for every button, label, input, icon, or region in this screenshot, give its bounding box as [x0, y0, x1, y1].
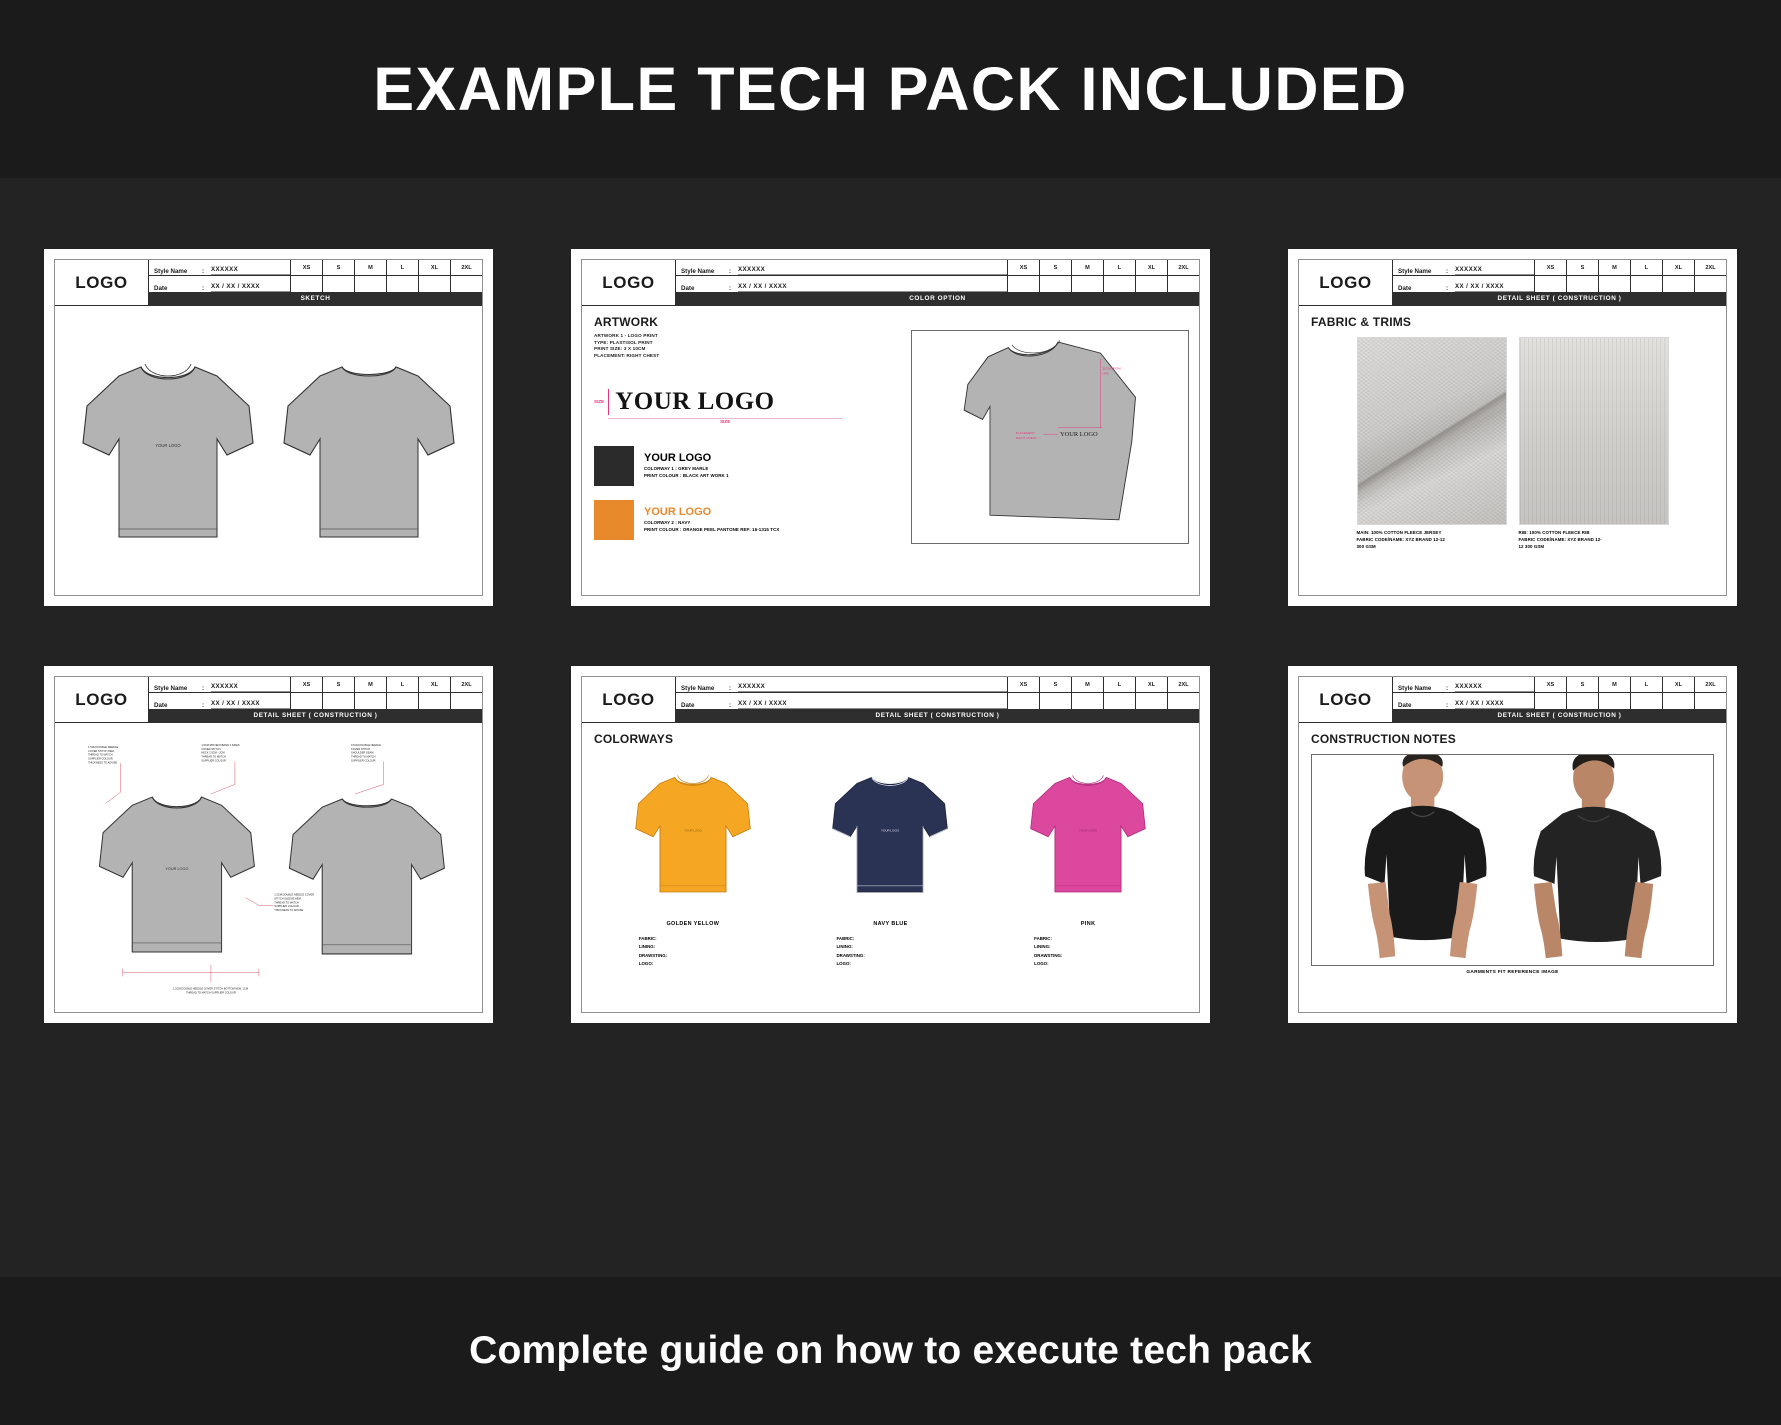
- size-l: L: [1104, 677, 1135, 693]
- date-value: XX / XX / XXXX: [211, 700, 290, 709]
- size-2xl-value[interactable]: [1168, 693, 1199, 709]
- size-tag-left: SIZE: [594, 399, 608, 404]
- colorway-specs-pink: FABRIC: LINING: DRAWSTING: LOGO:: [1028, 935, 1148, 968]
- size-rule-vertical: [608, 389, 609, 415]
- hero-logo-text: YOUR LOGO: [615, 388, 774, 416]
- size-xs-value[interactable]: [291, 276, 322, 292]
- size-xs-value[interactable]: [1535, 693, 1566, 709]
- colorway-item-golden-yellow[interactable]: YOUR LOGO GOLDEN YELLOW FABRIC: LINING: …: [633, 760, 753, 968]
- size-2xl-value[interactable]: [1695, 693, 1726, 709]
- spec-drawstring: DRAWSTING:: [836, 952, 950, 960]
- colon: :: [202, 285, 211, 292]
- size-2xl: 2XL: [1695, 260, 1726, 276]
- size-xs: XS: [291, 260, 322, 276]
- date-value: XX / XX / XXXX: [1455, 283, 1534, 292]
- logo-placeholder: LOGO: [582, 677, 676, 722]
- spec-lining: LINING:: [639, 943, 753, 951]
- colon: :: [202, 702, 211, 709]
- spec-logo: LOGO:: [639, 960, 753, 968]
- colon: :: [202, 685, 211, 692]
- size-m-value[interactable]: [1599, 276, 1630, 292]
- artwork-meta-line-1: ARTWORK 1 - LOGO PRINT: [594, 333, 902, 340]
- top-banner-title: EXAMPLE TECH PACK INCLUDED: [373, 54, 1407, 124]
- size-xl-value[interactable]: [419, 693, 450, 709]
- tee-back-flat: [289, 799, 444, 954]
- style-name-field: Style Name : XXXXXX: [676, 677, 1007, 693]
- style-name-label: Style Name: [1398, 268, 1446, 275]
- fit-reference-photo: [1311, 754, 1714, 966]
- tee-front-flat: YOUR LOGO: [99, 797, 254, 952]
- size-xs-value[interactable]: [1535, 276, 1566, 292]
- date-value: XX / XX / XXXX: [211, 283, 290, 292]
- sheet-header: LOGO Style Name : XXXXXX Date :: [55, 260, 482, 306]
- callout-hps-line2: HPS: [1103, 371, 1109, 375]
- style-name-field: Style Name : XXXXXX: [149, 260, 290, 276]
- tee-colorway-pink: YOUR LOGO: [1028, 760, 1148, 908]
- style-name-field: Style Name : XXXXXX: [149, 677, 290, 693]
- size-s-value[interactable]: [1567, 693, 1598, 709]
- colorway-tee-list: YOUR LOGO GOLDEN YELLOW FABRIC: LINING: …: [594, 760, 1187, 968]
- style-name-field: Style Name : XXXXXX: [676, 260, 1007, 276]
- size-2xl-value[interactable]: [451, 693, 482, 709]
- size-xl-value[interactable]: [419, 276, 450, 292]
- style-name-label: Style Name: [681, 268, 729, 275]
- colorway-name-navy-blue: NAVY BLUE: [830, 921, 950, 927]
- section-title-construction-notes: CONSTRUCTION NOTES: [1311, 732, 1714, 746]
- tee-back-flat: [280, 351, 458, 551]
- date-label: Date: [154, 702, 202, 709]
- size-l-value[interactable]: [387, 693, 418, 709]
- size-m-value[interactable]: [355, 693, 386, 709]
- date-value: XX / XX / XXXX: [738, 700, 1007, 709]
- size-2xl-value[interactable]: [1168, 276, 1199, 292]
- sheet-type-bar: DETAIL SHEET ( CONSTRUCTION ): [1393, 709, 1726, 722]
- date-field: Date : XX / XX / XXXX: [676, 693, 1007, 709]
- colorway-2-title: YOUR LOGO: [644, 506, 779, 518]
- colon: :: [729, 285, 738, 292]
- model-photos: [1312, 755, 1713, 965]
- size-2xl: 2XL: [451, 260, 482, 276]
- date-field: Date : XX / XX / XXXX: [1393, 693, 1534, 709]
- size-2xl-value[interactable]: [451, 276, 482, 292]
- tee-front-flat: YOUR LOGO: [79, 351, 257, 551]
- size-tag-below: SIZE: [608, 419, 842, 424]
- size-l-value[interactable]: [387, 276, 418, 292]
- size-xl: XL: [1136, 260, 1167, 276]
- sheet-header: LOGO Style Name : XXXXXX Date :: [1299, 260, 1726, 306]
- size-chart: XS S M L XL 2XL: [1007, 260, 1199, 292]
- section-title-artwork: ARTWORK: [594, 315, 902, 329]
- size-l: L: [1631, 260, 1662, 276]
- size-xl: XL: [1663, 677, 1694, 693]
- size-xl: XL: [419, 260, 450, 276]
- fabric-swatch-images: [1311, 337, 1714, 525]
- artwork-meta: ARTWORK 1 - LOGO PRINT TYPE: PLASTISOL P…: [594, 333, 902, 360]
- size-xl: XL: [419, 677, 450, 693]
- sheet-header: LOGO Style Name : XXXXXX Date :: [582, 260, 1199, 306]
- colorway-2-line-2: PRINT COLOUR : ORANGE PEEL PANTONE REF: …: [644, 527, 779, 534]
- spec-logo: LOGO:: [1034, 960, 1148, 968]
- size-s-value[interactable]: [1040, 693, 1071, 709]
- construction-callout-diagram: YOUR LOGO: [67, 732, 470, 1013]
- date-value: XX / XX / XXXX: [1455, 700, 1534, 709]
- size-2xl: 2XL: [1168, 260, 1199, 276]
- style-name-value: XXXXXX: [1455, 266, 1534, 275]
- style-name-value: XXXXXX: [211, 683, 290, 692]
- construction-note-5: 1.5CM DOUBLE NEEDLE COVER STITCH BOTTOM …: [173, 987, 249, 995]
- logo-placeholder: LOGO: [582, 260, 676, 305]
- colorway-1-line-1: COLORWAY 1 : GREY MARLE: [644, 466, 729, 473]
- date-field: Date : XX / XX / XXXX: [1393, 276, 1534, 292]
- spec-drawstring: DRAWSTING:: [639, 952, 753, 960]
- size-l: L: [387, 677, 418, 693]
- construction-note-4: 1.5CM DOUBLE NEEDLE COVER STITCH SLEEVE …: [274, 893, 315, 912]
- colon: :: [729, 268, 738, 275]
- size-xl: XL: [1136, 677, 1167, 693]
- sheet-type-bar: DETAIL SHEET ( CONSTRUCTION ): [149, 709, 482, 722]
- sheet-type-bar: DETAIL SHEET ( CONSTRUCTION ): [1393, 292, 1726, 305]
- size-xl-value[interactable]: [1663, 693, 1694, 709]
- size-l-value[interactable]: [1104, 276, 1135, 292]
- artwork-meta-line-3: PRINT SIZE: 3 X 10CM: [594, 346, 902, 353]
- logo-placeholder: LOGO: [55, 260, 149, 305]
- size-s: S: [1040, 260, 1071, 276]
- size-m: M: [1072, 677, 1103, 693]
- colon: :: [202, 268, 211, 275]
- tech-pack-page-fabric-trims[interactable]: LOGO Style Name : XXXXXX Date :: [1289, 250, 1736, 605]
- colorway-1-spec: COLORWAY 1 : GREY MARLE PRINT COLOUR : B…: [644, 466, 729, 479]
- tee-front-print: YOUR LOGO: [155, 443, 181, 448]
- size-xs: XS: [1535, 677, 1566, 693]
- section-title-colorways: COLORWAYS: [594, 732, 1187, 746]
- fit-reference-caption: GARMENTS FIT REFERENCE IMAGE: [1311, 966, 1714, 977]
- style-name-value: XXXXXX: [1455, 683, 1534, 692]
- construction-note-3: 0.6CM DOUBLE NEEDLE COVER STITCH SHOULDE…: [351, 743, 382, 762]
- colon: :: [1446, 285, 1455, 292]
- date-label: Date: [1398, 702, 1446, 709]
- size-chart: XS S M L XL 2XL: [1007, 677, 1199, 709]
- colorway-1-swatch: [594, 446, 634, 486]
- style-name-value: XXXXXX: [738, 266, 1007, 275]
- date-value: XX / XX / XXXX: [738, 283, 1007, 292]
- bottom-banner: Complete guide on how to execute tech pa…: [0, 1277, 1781, 1425]
- size-2xl: 2XL: [1695, 677, 1726, 693]
- size-chart: XS S M L XL 2XL: [290, 260, 482, 292]
- colorway-1-title: YOUR LOGO: [644, 452, 729, 464]
- logo-placeholder: LOGO: [55, 677, 149, 722]
- sheet-header: LOGO Style Name : XXXXXX Date :: [55, 677, 482, 723]
- date-label: Date: [1398, 285, 1446, 292]
- size-s-value[interactable]: [1040, 276, 1071, 292]
- colon: :: [1446, 702, 1455, 709]
- colorway-2-row: YOUR LOGO COLORWAY 2 : NAVY PRINT COLOUR…: [594, 500, 902, 540]
- tee-colorway-navy-blue: YOUR LOGO: [830, 760, 950, 908]
- colon: :: [729, 702, 738, 709]
- colorway-2-line-1: COLORWAY 2 : NAVY: [644, 520, 779, 527]
- fabric-image-rib: [1519, 337, 1669, 525]
- size-xl: XL: [1663, 260, 1694, 276]
- tech-pack-page-construction-notes[interactable]: LOGO Style Name : XXXXXX Date :: [1289, 667, 1736, 1022]
- size-2xl: 2XL: [1168, 677, 1199, 693]
- date-label: Date: [681, 285, 729, 292]
- fabric-image-main: [1357, 337, 1507, 525]
- size-xs: XS: [1008, 677, 1039, 693]
- sketch-tee-row: YOUR LOGO: [67, 315, 470, 586]
- spec-fabric: FABRIC:: [639, 935, 753, 943]
- size-s-value[interactable]: [323, 693, 354, 709]
- size-l: L: [1104, 260, 1135, 276]
- size-chart: XS S M L XL 2XL: [1534, 260, 1726, 292]
- colorway-2-swatch: [594, 500, 634, 540]
- sheet-header: LOGO Style Name : XXXXXX Date :: [582, 677, 1199, 723]
- style-name-label: Style Name: [154, 685, 202, 692]
- spec-lining: LINING:: [836, 943, 950, 951]
- colorway-tee-print: YOUR LOGO: [684, 828, 703, 832]
- colorway-specs-navy-blue: FABRIC: LINING: DRAWSTING: LOGO:: [830, 935, 950, 968]
- size-m-value[interactable]: [1072, 693, 1103, 709]
- artwork-meta-line-2: TYPE: PLASTISOL PRINT: [594, 340, 902, 347]
- callout-placement-line1: PLACEMENT: [1016, 431, 1035, 435]
- size-m: M: [1072, 260, 1103, 276]
- artwork-placement-mock: 10CM FROM HPS PLACEMENT RIGHT CHEST YOUR…: [911, 330, 1189, 544]
- size-s: S: [1567, 260, 1598, 276]
- style-name-field: Style Name : XXXXXX: [1393, 260, 1534, 276]
- size-xl-value[interactable]: [1663, 276, 1694, 292]
- size-2xl: 2XL: [451, 677, 482, 693]
- fabric-captions: MAIN: 100% COTTON FLEECE JERSEY FABRIC C…: [1311, 530, 1714, 550]
- fabric-caption-main: MAIN: 100% COTTON FLEECE JERSEY FABRIC C…: [1357, 530, 1507, 550]
- size-s: S: [1040, 677, 1071, 693]
- bottom-banner-title: Complete guide on how to execute tech pa…: [469, 1329, 1312, 1373]
- logo-placeholder: LOGO: [1299, 260, 1393, 305]
- size-l-value[interactable]: [1104, 693, 1135, 709]
- colorway-1-line-2: PRINT COLOUR : BLACK ART WORK 1: [644, 473, 729, 480]
- size-l-value[interactable]: [1631, 276, 1662, 292]
- date-label: Date: [154, 285, 202, 292]
- size-xs-value[interactable]: [291, 693, 322, 709]
- style-name-label: Style Name: [681, 685, 729, 692]
- colorway-item-navy-blue[interactable]: YOUR LOGO NAVY BLUE FABRIC: LINING: DRAW…: [830, 760, 950, 968]
- size-l: L: [387, 260, 418, 276]
- tech-pack-page-detail-construction[interactable]: LOGO Style Name : XXXXXX Date :: [45, 667, 492, 1022]
- callout-placement-line2: RIGHT CHEST: [1016, 436, 1037, 440]
- size-m: M: [355, 260, 386, 276]
- style-name-value: XXXXXX: [211, 266, 290, 275]
- size-xs-value[interactable]: [1008, 276, 1039, 292]
- spec-fabric: FABRIC:: [1034, 935, 1148, 943]
- date-field: Date : XX / XX / XXXX: [676, 276, 1007, 292]
- size-xl-value[interactable]: [1136, 276, 1167, 292]
- size-xs: XS: [1535, 260, 1566, 276]
- size-m: M: [1599, 677, 1630, 693]
- fabric-caption-rib: RIB: 100% COTTON FLEECE RIB FABRIC CODE/…: [1519, 530, 1669, 550]
- hero-logo-block: SIZE YOUR LOGO: [594, 388, 902, 416]
- style-name-label: Style Name: [154, 268, 202, 275]
- size-m: M: [1599, 260, 1630, 276]
- size-s: S: [1567, 677, 1598, 693]
- sheet-header: LOGO Style Name : XXXXXX Date :: [1299, 677, 1726, 723]
- size-xl-value[interactable]: [1136, 693, 1167, 709]
- section-title-fabric-trims: FABRIC & TRIMS: [1311, 315, 1714, 329]
- size-m-value[interactable]: [1072, 276, 1103, 292]
- size-chart: XS S M L XL 2XL: [1534, 677, 1726, 709]
- size-m: M: [355, 677, 386, 693]
- date-field: Date : XX / XX / XXXX: [149, 693, 290, 709]
- spec-lining: LINING:: [1034, 943, 1148, 951]
- size-m-value[interactable]: [1599, 693, 1630, 709]
- style-name-value: XXXXXX: [738, 683, 1007, 692]
- tee-placement-diagram: 10CM FROM HPS PLACEMENT RIGHT CHEST YOUR…: [912, 331, 1188, 543]
- tech-pack-page-colorways[interactable]: LOGO Style Name : XXXXXX Date :: [572, 667, 1209, 1022]
- style-name-field: Style Name : XXXXXX: [1393, 677, 1534, 693]
- mock-logo-text: YOUR LOGO: [1060, 431, 1098, 438]
- size-m-value[interactable]: [355, 276, 386, 292]
- size-xs: XS: [1008, 260, 1039, 276]
- size-xs: XS: [291, 677, 322, 693]
- colon: :: [1446, 268, 1455, 275]
- size-s-value[interactable]: [1567, 276, 1598, 292]
- colorway-tee-print: YOUR LOGO: [1079, 828, 1098, 832]
- sheet-type-bar: SKETCH: [149, 292, 482, 305]
- tech-pack-page-color-option[interactable]: LOGO Style Name : XXXXXX Date :: [572, 250, 1209, 605]
- size-xs-value[interactable]: [1008, 693, 1039, 709]
- size-l: L: [1631, 677, 1662, 693]
- size-s-value[interactable]: [323, 276, 354, 292]
- colorway-name-pink: PINK: [1028, 921, 1148, 927]
- style-name-label: Style Name: [1398, 685, 1446, 692]
- colon: :: [729, 685, 738, 692]
- colon: :: [1446, 685, 1455, 692]
- construction-note-2: 1.5CM RIB NECKBAND 2 SIDES COVER STITCH,…: [201, 743, 240, 762]
- tee-colorway-golden-yellow: YOUR LOGO: [633, 760, 753, 908]
- callout-hps-line1: 10CM FROM: [1103, 367, 1122, 371]
- logo-placeholder: LOGO: [1299, 677, 1393, 722]
- sheet-type-bar: DETAIL SHEET ( CONSTRUCTION ): [676, 709, 1199, 722]
- sheet-type-bar: COLOR OPTION: [676, 292, 1199, 305]
- spec-logo: LOGO:: [836, 960, 950, 968]
- colorway-name-golden-yellow: GOLDEN YELLOW: [633, 921, 753, 927]
- top-banner: EXAMPLE TECH PACK INCLUDED: [0, 0, 1781, 178]
- construction-note-1: 1.5CM DOUBLE NEEDLE COVER STITCH HEM, TH…: [88, 745, 119, 764]
- colorway-item-pink[interactable]: YOUR LOGO PINK FABRIC: LINING: DRAWSTING…: [1028, 760, 1148, 968]
- colorway-2-spec: COLORWAY 2 : NAVY PRINT COLOUR : ORANGE …: [644, 520, 779, 533]
- date-label: Date: [681, 702, 729, 709]
- spec-fabric: FABRIC:: [836, 935, 950, 943]
- size-l-value[interactable]: [1631, 693, 1662, 709]
- tech-pack-page-sketch[interactable]: LOGO Style Name : XXXXXX Date :: [45, 250, 492, 605]
- spec-drawstring: DRAWSTING:: [1034, 952, 1148, 960]
- size-s: S: [323, 677, 354, 693]
- size-chart: XS S M L XL 2XL: [290, 677, 482, 709]
- colorway-specs-golden-yellow: FABRIC: LINING: DRAWSTING: LOGO:: [633, 935, 753, 968]
- date-field: Date : XX / XX / XXXX: [149, 276, 290, 292]
- size-s: S: [323, 260, 354, 276]
- tee-front-print: YOUR LOGO: [165, 867, 188, 871]
- size-2xl-value[interactable]: [1695, 276, 1726, 292]
- artwork-meta-line-4: PLACEMENT: RIGHT CHEST: [594, 353, 902, 360]
- colorway-1-row: YOUR LOGO COLORWAY 1 : GREY MARLE PRINT …: [594, 446, 902, 486]
- colorway-tee-print: YOUR LOGO: [882, 828, 901, 832]
- tech-pack-grid: LOGO Style Name : XXXXXX Date :: [0, 178, 1781, 1277]
